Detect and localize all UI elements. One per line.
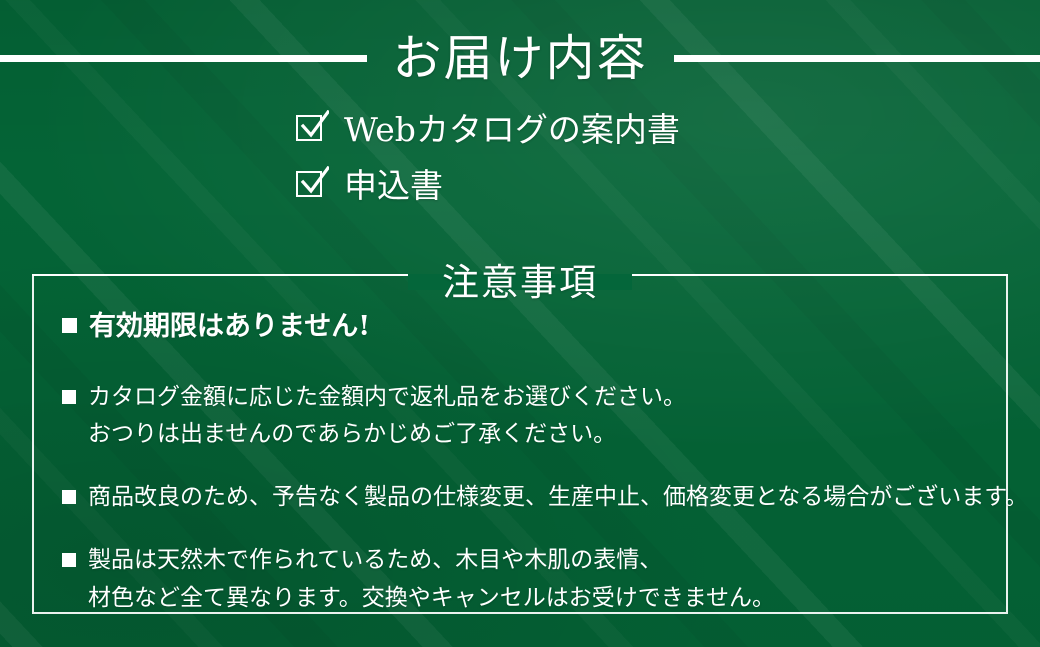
notice-heading-row: 注意事項 — [0, 246, 1040, 306]
notice-text-line: 製品は天然木で作られているため、木目や木肌の表情、 — [88, 542, 1002, 579]
notice-heading: 注意事項 — [408, 264, 632, 301]
square-bullet-icon — [62, 490, 76, 504]
notice-text-line: 商品改良のため、予告なく製品の仕様変更、生産中止、価格変更となる場合がございます… — [88, 479, 1028, 516]
list-item: 申込書 — [296, 164, 896, 208]
delivery-contents-checklist: Webカタログの案内書 申込書 — [296, 108, 896, 220]
list-item-label: 申込書 — [344, 168, 443, 204]
notice-text-line: 有効期限はありません! — [89, 305, 1002, 349]
page-title: お届け内容 — [367, 34, 674, 83]
notice-heading-rule — [32, 274, 408, 276]
notice-text-line: おつりは出ませんのであらかじめご了承ください。 — [88, 416, 1002, 453]
header-rule-right — [674, 55, 1040, 62]
square-bullet-icon — [62, 318, 77, 333]
list-item: カタログ金額に応じた金額内で返礼品をお選びください。 おつりは出ませんのであらか… — [62, 379, 1002, 454]
notice-text-line: カタログ金額に応じた金額内で返礼品をお選びください。 — [88, 379, 1002, 416]
promo-poster: お届け内容 Webカタログの案内書 — [0, 0, 1040, 647]
main-header: お届け内容 — [0, 12, 1040, 104]
list-item: 有効期限はありません! — [62, 305, 1002, 349]
list-item: 製品は天然木で作られているため、木目や木肌の表情、 材色など全て異なります。交換… — [62, 542, 1002, 617]
square-bullet-icon — [62, 390, 76, 404]
checked-checkbox-icon — [296, 171, 326, 201]
notice-heading-rule — [632, 274, 1008, 276]
list-item-label: Webカタログの案内書 — [344, 112, 680, 148]
notice-list: 有効期限はありません! カタログ金額に応じた金額内で返礼品をお選びください。 お… — [62, 305, 1002, 639]
list-item: Webカタログの案内書 — [296, 108, 896, 152]
checked-checkbox-icon — [296, 115, 326, 145]
header-rule-left — [0, 55, 367, 62]
notice-text-line: 材色など全て異なります。交換やキャンセルはお受けできません。 — [88, 580, 1002, 617]
list-item: 商品改良のため、予告なく製品の仕様変更、生産中止、価格変更となる場合がございます… — [62, 479, 1002, 516]
square-bullet-icon — [62, 553, 76, 567]
